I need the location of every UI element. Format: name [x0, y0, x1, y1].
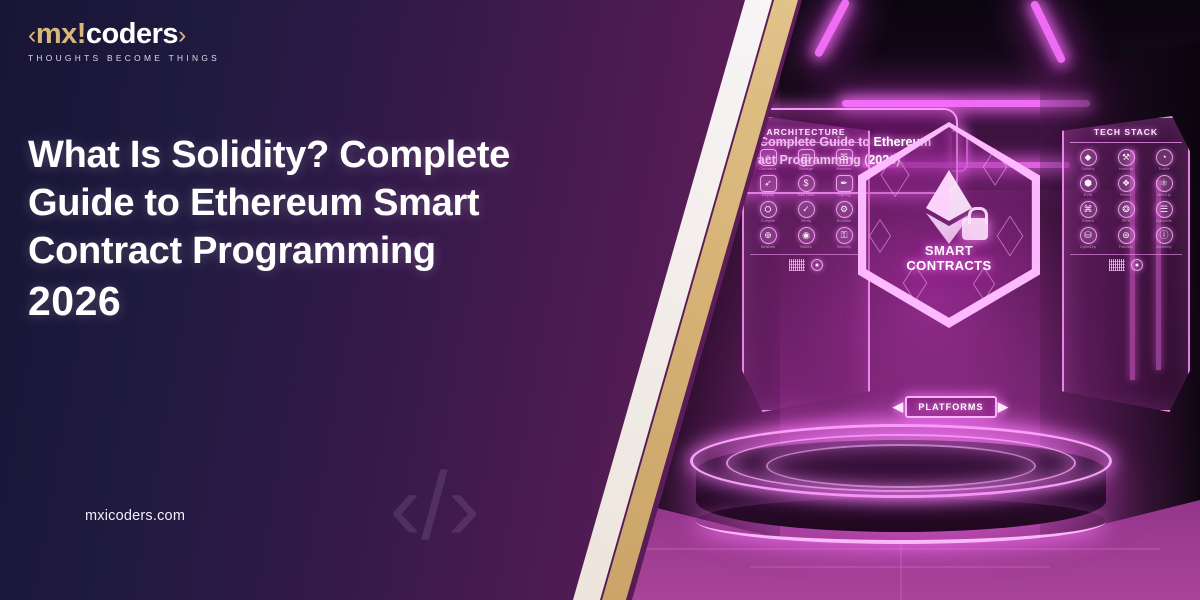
brand-logo[interactable]: ‹ mx ! coders › THOUGHTS BECOME THINGS — [28, 18, 220, 63]
hologram-panel-architecture: ARCHITECTURE ⌂Contracts ◰Storage ☷Module… — [742, 116, 870, 412]
brand-tagline: THOUGHTS BECOME THINGS — [28, 53, 220, 63]
holo-item-label: Ethers — [1082, 219, 1094, 223]
ipfs-icon: ❂ — [1118, 201, 1135, 218]
smart-contracts-hexagon: SMART CONTRACTS — [858, 122, 1040, 328]
security-icon: ⚿ — [836, 227, 853, 244]
holo-item-label: Ganache — [1156, 219, 1172, 223]
holo-item-label: Modules — [837, 167, 852, 171]
headline-line-3: Contract Programming — [28, 230, 436, 272]
logo-bracket-open: ‹ — [28, 21, 36, 50]
page-title: What Is Solidity? Complete Guide to Ethe… — [28, 132, 573, 327]
tech-stack-icon-grid: ◆Solidity ⚒Hardhat ◔Truffle ⬢EVM ❖Remix … — [1070, 143, 1182, 249]
signing-icon: ✒ — [836, 175, 853, 192]
holo-item: ⌘Ethers — [1070, 201, 1106, 223]
holo-item: ❖Remix — [1108, 175, 1144, 197]
holo-item: ⚒Hardhat — [1108, 149, 1144, 171]
holo-item-label: Gas Fees — [797, 193, 814, 197]
tech-stack-panel-title: TECH STACK — [1070, 125, 1182, 143]
holo-item-label: Alchemy — [1156, 245, 1171, 249]
compile-icon: ⛭ — [760, 201, 777, 218]
holo-item: ☰Ganache — [1146, 201, 1182, 223]
holo-item-label: Verify — [801, 219, 811, 223]
headline-year: 2026 — [28, 276, 573, 328]
storage-icon: ◰ — [798, 149, 815, 166]
holo-item: ☷Modules — [826, 149, 862, 171]
blog-hero-banner: What Is Solidity? Complete Guide to Ethe… — [0, 0, 1200, 600]
hologram-panel-tech-stack: TECH STACK ◆Solidity ⚒Hardhat ◔Truffle ⬢… — [1062, 116, 1190, 412]
website-url[interactable]: mxicoders.com — [85, 508, 185, 524]
ganache-icon: ☰ — [1156, 201, 1173, 218]
ethers-icon: ⌘ — [1080, 201, 1097, 218]
headline-line-1: What Is Solidity? Complete — [28, 134, 510, 176]
holo-item: ⚙Runtime — [826, 201, 862, 223]
holo-item: ✒Signing — [826, 175, 862, 197]
code-brackets-icon: ‹/› — [382, 462, 487, 552]
modules-icon: ☷ — [836, 149, 853, 166]
holo-item: ⊕Network — [750, 227, 786, 249]
podium-edge-glow — [696, 498, 1106, 544]
holo-item-label: IPFS — [1122, 219, 1131, 223]
holo-item: ⚿Security — [826, 227, 862, 249]
holo-item: ⬢EVM — [1070, 175, 1106, 197]
holo-item-label: Storage — [799, 167, 813, 171]
alchemy-icon: ⓘ — [1156, 227, 1173, 244]
holo-item-label: Runtime — [837, 219, 852, 223]
holo-item: ⓘAlchemy — [1146, 227, 1182, 249]
holo-item-label: Signing — [837, 193, 850, 197]
holo-item-label: Security — [837, 245, 852, 249]
holo-item: ◔Truffle — [1146, 149, 1182, 171]
architecture-icon-grid: ⌂Contracts ◰Storage ☷Modules ➶Deploy $Ga… — [750, 143, 862, 249]
holo-item-label: EVM — [1084, 193, 1092, 197]
holo-item: ✓Verify — [788, 201, 824, 223]
network-icon: ⊕ — [760, 227, 777, 244]
truffle-icon: ◔ — [1156, 149, 1173, 166]
chevron-right-icon: ▶ — [998, 399, 1009, 415]
holo-item: ⛁OpenZep — [1070, 227, 1106, 249]
tech-stack-panel-footer: ● — [1070, 254, 1182, 271]
web3js-icon: ⚛ — [1156, 175, 1173, 192]
holo-item-label: Network — [761, 245, 776, 249]
badge-icon: ● — [1131, 259, 1143, 271]
logo-mx-text: mx — [36, 18, 77, 51]
holo-item-label: Foundry — [1119, 245, 1134, 249]
openzeppelin-icon: ⛁ — [1080, 227, 1097, 244]
runtime-icon: ⚙ — [836, 201, 853, 218]
qr-code-icon — [789, 259, 805, 271]
holo-item-label: Hardhat — [1119, 167, 1133, 171]
holo-item: ◆Solidity — [1070, 149, 1106, 171]
chevron-left-icon: ◀ — [893, 399, 904, 415]
holo-item-label: Deploy — [762, 193, 774, 197]
hardhat-icon: ⚒ — [1118, 149, 1135, 166]
podium-ring — [766, 444, 1036, 488]
solidity-icon: ◆ — [1080, 149, 1097, 166]
holo-item: ⌂Contracts — [750, 149, 786, 171]
smart-contracts-line2: CONTRACTS — [906, 258, 991, 273]
padlock-icon — [962, 218, 988, 240]
holo-item: ⚛Web3.js — [1146, 175, 1182, 197]
holo-item-label: Truffle — [1158, 167, 1169, 171]
deploy-icon: ➶ — [760, 175, 777, 192]
gas-fees-icon: $ — [798, 175, 815, 192]
architecture-panel-title: ARCHITECTURE — [750, 125, 862, 143]
logo-exclamation: ! — [77, 18, 86, 51]
holo-item-label: OpenZep — [1080, 245, 1096, 249]
holo-item-label: Web3.js — [1157, 193, 1171, 197]
holo-item-label: Nodes — [800, 245, 811, 249]
holo-item-label: Remix — [1120, 193, 1131, 197]
holo-item: ◰Storage — [788, 149, 824, 171]
logo-bracket-close: › — [178, 21, 186, 50]
smart-contracts-line1: SMART — [925, 243, 973, 258]
remix-icon: ❖ — [1118, 175, 1135, 192]
holo-item: ⛭Compile — [750, 201, 786, 223]
holo-item: ◉Nodes — [788, 227, 824, 249]
holo-item: ❂IPFS — [1108, 201, 1144, 223]
brand-logo-wordmark: ‹ mx ! coders › — [28, 18, 220, 51]
holo-item-label: Contracts — [759, 167, 776, 171]
platforms-label: PLATFORMS — [918, 402, 983, 412]
contracts-icon: ⌂ — [760, 149, 777, 166]
platforms-badge: ◀ PLATFORMS ▶ — [905, 396, 997, 418]
holo-item: $Gas Fees — [788, 175, 824, 197]
floor-line — [900, 540, 902, 600]
holo-item: ➶Deploy — [750, 175, 786, 197]
badge-icon: ● — [811, 259, 823, 271]
qr-code-icon — [1109, 259, 1125, 271]
holo-item: ⊛Foundry — [1108, 227, 1144, 249]
holo-item-label: Compile — [761, 219, 776, 223]
holo-item-label: Solidity — [1081, 167, 1094, 171]
verify-icon: ✓ — [798, 201, 815, 218]
evm-icon: ⬢ — [1080, 175, 1097, 192]
plate-bracket-left — [608, 130, 624, 172]
smart-contracts-label: SMART CONTRACTS — [858, 244, 1040, 273]
architecture-panel-footer: ● — [750, 254, 862, 271]
nodes-icon: ◉ — [798, 227, 815, 244]
logo-coders-text: coders — [86, 18, 178, 51]
foundry-icon: ⊛ — [1118, 227, 1135, 244]
headline-line-2: Guide to Ethereum Smart — [28, 182, 479, 224]
